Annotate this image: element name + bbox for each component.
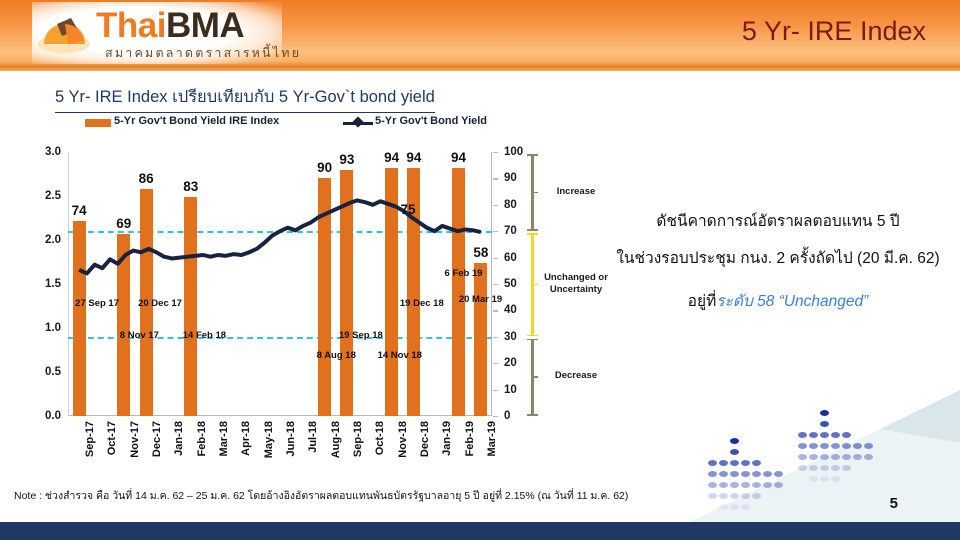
- x-axis-label: Dec-18: [419, 421, 431, 457]
- right-axis-tick: 10: [504, 384, 517, 396]
- decorative-dot: [820, 421, 829, 427]
- zone-label: Unchanged or Uncertainty: [543, 272, 609, 296]
- decorative-dot: [853, 454, 862, 460]
- x-axis-label: Jul-18: [307, 421, 319, 453]
- summary-line-2: ในช่วงรอบประชุม กนง. 2 ครั้งถัดไป (20 มี…: [610, 245, 946, 270]
- zone-bracket-cap: [527, 233, 538, 235]
- decorative-dot: [798, 454, 807, 460]
- page-title: 5 Yr- IRE Index: [742, 16, 926, 47]
- decorative-dot: [809, 432, 818, 438]
- decorative-dot: [853, 443, 862, 449]
- x-axis-label: Sep-18: [352, 421, 364, 457]
- right-axis-tick: 80: [504, 199, 517, 211]
- logo-subtitle: สมาคมตลาดตราสารหนี้ไทย: [105, 43, 301, 63]
- header-underline: [0, 66, 960, 71]
- decorative-dot: [809, 476, 818, 482]
- right-axis-tick-mark: [493, 310, 498, 311]
- x-axis-label: May-18: [263, 421, 275, 458]
- yield-line-series: [68, 152, 492, 416]
- zone-bracket-tick: [531, 192, 538, 193]
- decorative-dot: [719, 482, 728, 488]
- right-axis-tick-mark: [493, 416, 498, 417]
- decorative-dot: [798, 443, 807, 449]
- right-axis-tick-mark: [493, 205, 498, 206]
- legend-line-marker-icon: [352, 116, 363, 127]
- decorative-dot: [741, 482, 750, 488]
- left-axis-tick: 2.0: [45, 234, 61, 246]
- decorative-dot: [752, 482, 761, 488]
- bar-date-label: 19 Dec 18: [400, 298, 444, 309]
- left-axis-tick: 3.0: [45, 146, 61, 158]
- x-axis-label: Mar-19: [486, 421, 498, 456]
- decorative-dot: [730, 438, 739, 444]
- decorative-dot: [741, 493, 750, 499]
- decorative-dot: [809, 443, 818, 449]
- right-axis-tick: 50: [504, 278, 517, 290]
- decorative-dot: [809, 454, 818, 460]
- bar-value-label: 83: [183, 179, 198, 194]
- decorative-dot: [820, 443, 829, 449]
- bar-value-label: 94: [384, 150, 399, 165]
- x-axis-label: Feb-19: [464, 421, 476, 456]
- right-axis-tick-mark: [493, 284, 498, 285]
- decorative-dot: [798, 432, 807, 438]
- left-axis-tick: 0.0: [45, 410, 61, 422]
- decorative-dot: [820, 476, 829, 482]
- decorative-dot: [708, 471, 717, 477]
- x-axis-label: Feb-18: [196, 421, 208, 456]
- left-axis-tick: 0.5: [45, 366, 61, 378]
- x-axis-label: Dec-17: [151, 421, 163, 457]
- right-axis-tick-mark: [493, 258, 498, 259]
- bar-value-label: 74: [72, 203, 87, 218]
- decorative-dot: [741, 471, 750, 477]
- decorative-dot: [842, 465, 851, 471]
- x-axis-label: Mar-18: [218, 421, 230, 456]
- summary-line-3-prefix: อยู่ที่: [688, 293, 717, 310]
- left-axis-tick: 1.5: [45, 278, 61, 290]
- decorative-dot: [719, 471, 728, 477]
- decorative-dot: [752, 493, 761, 499]
- zone-bracket-tick: [531, 284, 538, 285]
- chart-title: 5 Yr- IRE Index เปรียบเทียบกับ 5 Yr-Gov`…: [55, 84, 435, 113]
- decorative-dot: [730, 460, 739, 466]
- decorative-dot: [820, 432, 829, 438]
- legend-bar-label: 5-Yr Gov't Bond Yield IRE Index: [114, 115, 279, 127]
- bar-date-label: 19 Sep 18: [339, 330, 383, 341]
- bar-value-label: 90: [317, 160, 332, 175]
- bar-value-label: 94: [406, 150, 421, 165]
- decorative-dot: [774, 482, 783, 488]
- decorative-corner: [690, 390, 960, 522]
- decorative-dot: [752, 460, 761, 466]
- chart-legend: 5-Yr Gov't Bond Yield IRE Index 5-Yr Gov…: [85, 114, 505, 132]
- bar-date-label: 14 Nov 18: [378, 350, 422, 361]
- x-axis-label: Nov-17: [129, 421, 141, 458]
- decorative-dot: [730, 471, 739, 477]
- bar-value-label: 69: [116, 216, 131, 231]
- summary-line-1: ดัชนีคาดการณ์อัตราผลตอบแทน 5 ปี: [610, 208, 946, 233]
- right-axis-tick: 20: [504, 357, 517, 369]
- decorative-dot: [798, 465, 807, 471]
- decorative-dot: [831, 476, 840, 482]
- decorative-dot: [730, 493, 739, 499]
- zone-label: Decrease: [543, 370, 609, 382]
- bar-value-label: 94: [451, 150, 466, 165]
- decorative-dot: [763, 482, 772, 488]
- right-axis-tick-mark: [493, 390, 498, 391]
- summary-text: ดัชนีคาดการณ์อัตราผลตอบแทน 5 ปี ในช่วงรอ…: [610, 208, 946, 313]
- right-axis-tick: 30: [504, 331, 517, 343]
- bar-date-label: 14 Feb 18: [183, 330, 226, 341]
- x-axis-label: Aug-18: [330, 421, 342, 458]
- right-axis-tick: 90: [504, 172, 517, 184]
- zone-bracket-cap: [527, 229, 538, 231]
- decorative-dot: [831, 432, 840, 438]
- bar-date-label: 20 Mar 19: [459, 294, 502, 305]
- zone-bracket-cap: [527, 339, 538, 341]
- footnote: Note : ช่วงสำรวจ คือ วันที่ 14 ม.ค. 62 –…: [14, 487, 628, 504]
- summary-line-3: อยู่ที่ระดับ 58 “Unchanged”: [610, 288, 946, 313]
- right-axis-tick: 40: [504, 304, 517, 316]
- bar-date-label: 27 Sep 17: [75, 298, 119, 309]
- x-axis-label: Nov-18: [397, 421, 409, 458]
- x-axis-label: Jan-19: [441, 421, 453, 456]
- left-axis-tick: 1.0: [45, 322, 61, 334]
- line-annotation: 75: [400, 202, 415, 217]
- decorative-dot: [774, 471, 783, 477]
- decorative-dot: [719, 493, 728, 499]
- decorative-dot: [820, 410, 829, 416]
- decorative-dot: [752, 471, 761, 477]
- zone-bracket-cap: [527, 414, 538, 416]
- bar-value-label: 58: [473, 245, 488, 260]
- logo-wordmark: ThaiBMA: [96, 6, 244, 46]
- decorative-dot: [730, 504, 739, 510]
- x-axis-label: Jun-18: [285, 421, 297, 456]
- decorative-dot: [730, 449, 739, 455]
- x-axis-label: Oct-18: [374, 421, 386, 455]
- decorative-dot: [719, 460, 728, 466]
- bar-date-label: 20 Dec 17: [138, 298, 182, 309]
- bar-date-label: 8 Aug 18: [317, 350, 356, 361]
- decorative-dot: [831, 454, 840, 460]
- right-axis-tick: 0: [504, 410, 510, 422]
- x-axis-label: Apr-18: [240, 421, 252, 456]
- zone-bracket-cap: [527, 335, 538, 337]
- decorative-dot: [820, 454, 829, 460]
- right-axis-tick: 60: [504, 252, 517, 264]
- right-axis-tick-mark: [493, 152, 498, 153]
- decorative-dot: [730, 482, 739, 488]
- x-axis-label: Sep-17: [84, 421, 96, 457]
- right-axis-tick-mark: [493, 363, 498, 364]
- slide: ThaiBMA สมาคมตลาดตราสารหนี้ไทย 5 Yr- IRE…: [0, 0, 960, 540]
- thaibma-logo-icon: [38, 14, 96, 54]
- x-axis-label: Jan-18: [173, 421, 185, 456]
- decorative-dot: [708, 493, 717, 499]
- bar-date-label: 8 Nov 17: [120, 330, 159, 341]
- decorative-dot: [831, 443, 840, 449]
- logo-word-bma: BMA: [166, 6, 244, 45]
- logo-word-thai: Thai: [96, 6, 166, 45]
- right-axis-tick: 70: [504, 225, 517, 237]
- decorative-dot: [842, 432, 851, 438]
- right-axis-tick: 100: [504, 146, 523, 158]
- decorative-dot: [741, 460, 750, 466]
- right-axis-tick-mark: [493, 231, 498, 232]
- decorative-dot: [864, 454, 873, 460]
- decorative-dot: [842, 443, 851, 449]
- zone-bracket-tick: [531, 376, 538, 377]
- summary-highlight: ระดับ 58 “Unchanged”: [716, 293, 868, 310]
- bar-value-label: 86: [139, 171, 154, 186]
- chart-plot-area: 0.00.51.01.52.02.53.0 010203040506070809…: [68, 152, 492, 416]
- zone-bracket-cap: [527, 154, 538, 156]
- legend-line-label: 5-Yr Gov't Bond Yield: [375, 115, 487, 127]
- footer-bar: [0, 522, 960, 540]
- right-axis-tick-mark: [493, 178, 498, 179]
- decorative-dot: [763, 471, 772, 477]
- decorative-dot: [741, 504, 750, 510]
- page-number: 5: [890, 495, 898, 512]
- decorative-dot: [820, 465, 829, 471]
- bar-date-label: 6 Feb 19: [445, 268, 483, 279]
- zone-legend-panel: IncreaseUnchanged or UncertaintyDecrease: [525, 152, 610, 416]
- decorative-dot: [831, 465, 840, 471]
- yield-line-path: [79, 200, 481, 273]
- x-axis-label: Oct-17: [106, 421, 118, 455]
- decorative-dot: [719, 504, 728, 510]
- decorative-dot: [864, 443, 873, 449]
- left-axis-tick: 2.5: [45, 190, 61, 202]
- decorative-dot: [708, 460, 717, 466]
- bar-value-label: 93: [339, 152, 354, 167]
- zone-label: Increase: [543, 186, 609, 198]
- legend-bar-swatch: [85, 119, 111, 127]
- right-axis-tick-mark: [493, 337, 498, 338]
- decorative-dot: [842, 454, 851, 460]
- decorative-dot: [809, 465, 818, 471]
- decorative-dot: [708, 482, 717, 488]
